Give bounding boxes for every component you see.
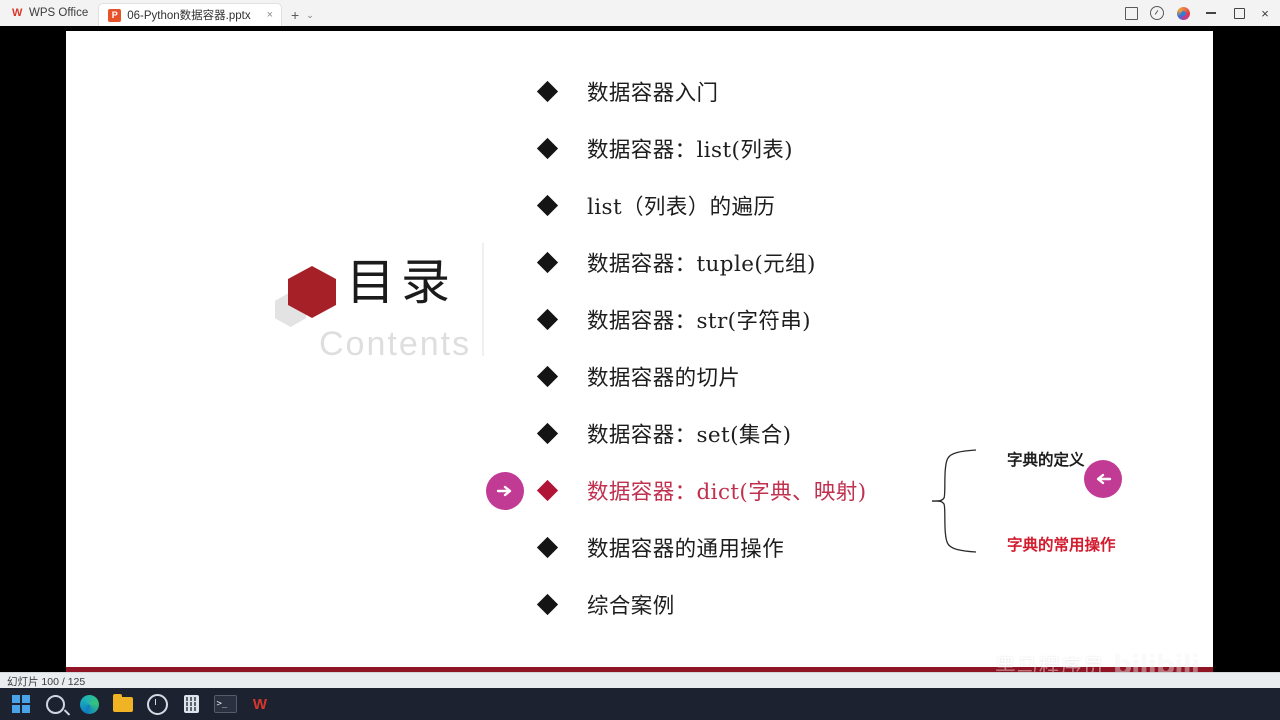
status-bar: 幻灯片 100 / 125 <box>0 672 1280 689</box>
close-tab-icon[interactable]: × <box>267 10 273 21</box>
wps-office-icon[interactable]: W <box>246 691 272 717</box>
diamond-bullet-icon <box>537 594 558 615</box>
windows-taskbar: >_ W <box>0 688 1280 720</box>
list-item[interactable]: list（列表）的遍历 <box>540 177 1000 234</box>
edge-browser-icon[interactable] <box>76 691 102 717</box>
chevron-down-icon[interactable]: ⌄ <box>306 10 314 21</box>
list-item-label: 数据容器：str(字符串) <box>587 304 811 335</box>
contents-list: 数据容器入门 数据容器：list(列表) list（列表）的遍历 数据容器：tu… <box>540 63 1000 633</box>
clock-widget-icon[interactable] <box>144 691 170 717</box>
list-item[interactable]: 综合案例 <box>540 576 1000 633</box>
current-subtopic-marker-icon <box>1084 460 1122 498</box>
minimize-button[interactable] <box>1196 0 1226 26</box>
close-window-button[interactable]: × <box>1252 0 1278 26</box>
list-item-label: list（列表）的遍历 <box>587 190 775 221</box>
list-item[interactable]: 数据容器入门 <box>540 63 1000 120</box>
list-item-active[interactable]: 数据容器：dict(字典、映射) <box>540 462 1000 519</box>
diamond-bullet-icon <box>537 309 558 330</box>
window-right-controls: × <box>1118 0 1280 26</box>
list-item-label: 综合案例 <box>587 589 675 620</box>
help-circle-icon[interactable] <box>1144 0 1170 26</box>
diamond-bullet-icon <box>537 195 558 216</box>
maximize-button[interactable] <box>1226 0 1252 26</box>
list-item-label: 数据容器的通用操作 <box>587 532 784 563</box>
list-item[interactable]: 数据容器：list(列表) <box>540 120 1000 177</box>
list-item[interactable]: 数据容器的切片 <box>540 348 1000 405</box>
current-topic-marker-icon <box>486 472 524 510</box>
desktop-screen: W WPS Office P 06-Python数据容器.pptx × + ⌄ … <box>0 0 1280 720</box>
file-explorer-icon[interactable] <box>110 691 136 717</box>
list-item-label: 数据容器：dict(字典、映射) <box>587 475 867 506</box>
list-item[interactable]: 数据容器：set(集合) <box>540 405 1000 462</box>
list-item[interactable]: 数据容器：str(字符串) <box>540 291 1000 348</box>
diamond-bullet-icon <box>537 366 558 387</box>
document-tab-label: 06-Python数据容器.pptx <box>127 7 250 23</box>
diamond-bullet-icon <box>537 480 558 501</box>
page-subtitle: Contents <box>319 327 471 361</box>
start-button-icon[interactable] <box>8 691 34 717</box>
diamond-bullet-icon <box>537 252 558 273</box>
list-item-label: 数据容器：tuple(元组) <box>587 247 816 278</box>
presentation-stage[interactable]: 目录 Contents 数据容器入门 数据容器：list(列表) list（列表… <box>0 26 1280 672</box>
list-item-label: 数据容器：set(集合) <box>587 418 791 449</box>
document-tab[interactable]: P 06-Python数据容器.pptx × <box>98 3 282 26</box>
callout-dict-definition: 字典的定义 <box>1007 448 1085 470</box>
slide-counter: 幻灯片 100 / 125 <box>0 674 85 689</box>
window-titlebar: W WPS Office P 06-Python数据容器.pptx × + ⌄ … <box>0 0 1280 27</box>
sidebar-toggle-icon[interactable] <box>1118 0 1144 26</box>
vertical-divider <box>482 243 484 356</box>
diamond-bullet-icon <box>537 81 558 102</box>
calculator-icon[interactable] <box>178 691 204 717</box>
account-avatar-icon[interactable] <box>1170 0 1196 26</box>
slide-title-block: 目录 Contents <box>269 258 499 388</box>
list-item-label: 数据容器：list(列表) <box>587 133 793 164</box>
wps-taskbar-label: W <box>253 696 265 713</box>
wps-logo-icon: W <box>9 7 24 20</box>
diamond-bullet-icon <box>537 138 558 159</box>
new-tab-icon[interactable]: + <box>291 7 299 23</box>
terminal-icon[interactable]: >_ <box>212 691 238 717</box>
wps-office-brand[interactable]: W WPS Office <box>0 0 98 26</box>
powerpoint-file-icon: P <box>108 9 121 22</box>
new-tab-controls[interactable]: + ⌄ <box>282 4 320 26</box>
list-item-label: 数据容器的切片 <box>587 361 740 392</box>
diamond-bullet-icon <box>537 423 558 444</box>
callout-dict-operations: 字典的常用操作 <box>1007 533 1116 555</box>
wps-brand-label: WPS Office <box>29 7 88 19</box>
page-title: 目录 <box>346 258 456 307</box>
list-item-label: 数据容器入门 <box>587 76 718 107</box>
list-item[interactable]: 数据容器的通用操作 <box>540 519 1000 576</box>
list-item[interactable]: 数据容器：tuple(元组) <box>540 234 1000 291</box>
diamond-bullet-icon <box>537 537 558 558</box>
search-icon[interactable] <box>42 691 68 717</box>
slide-canvas[interactable]: 目录 Contents 数据容器入门 数据容器：list(列表) list（列表… <box>66 31 1213 677</box>
brace-connector <box>932 442 978 560</box>
